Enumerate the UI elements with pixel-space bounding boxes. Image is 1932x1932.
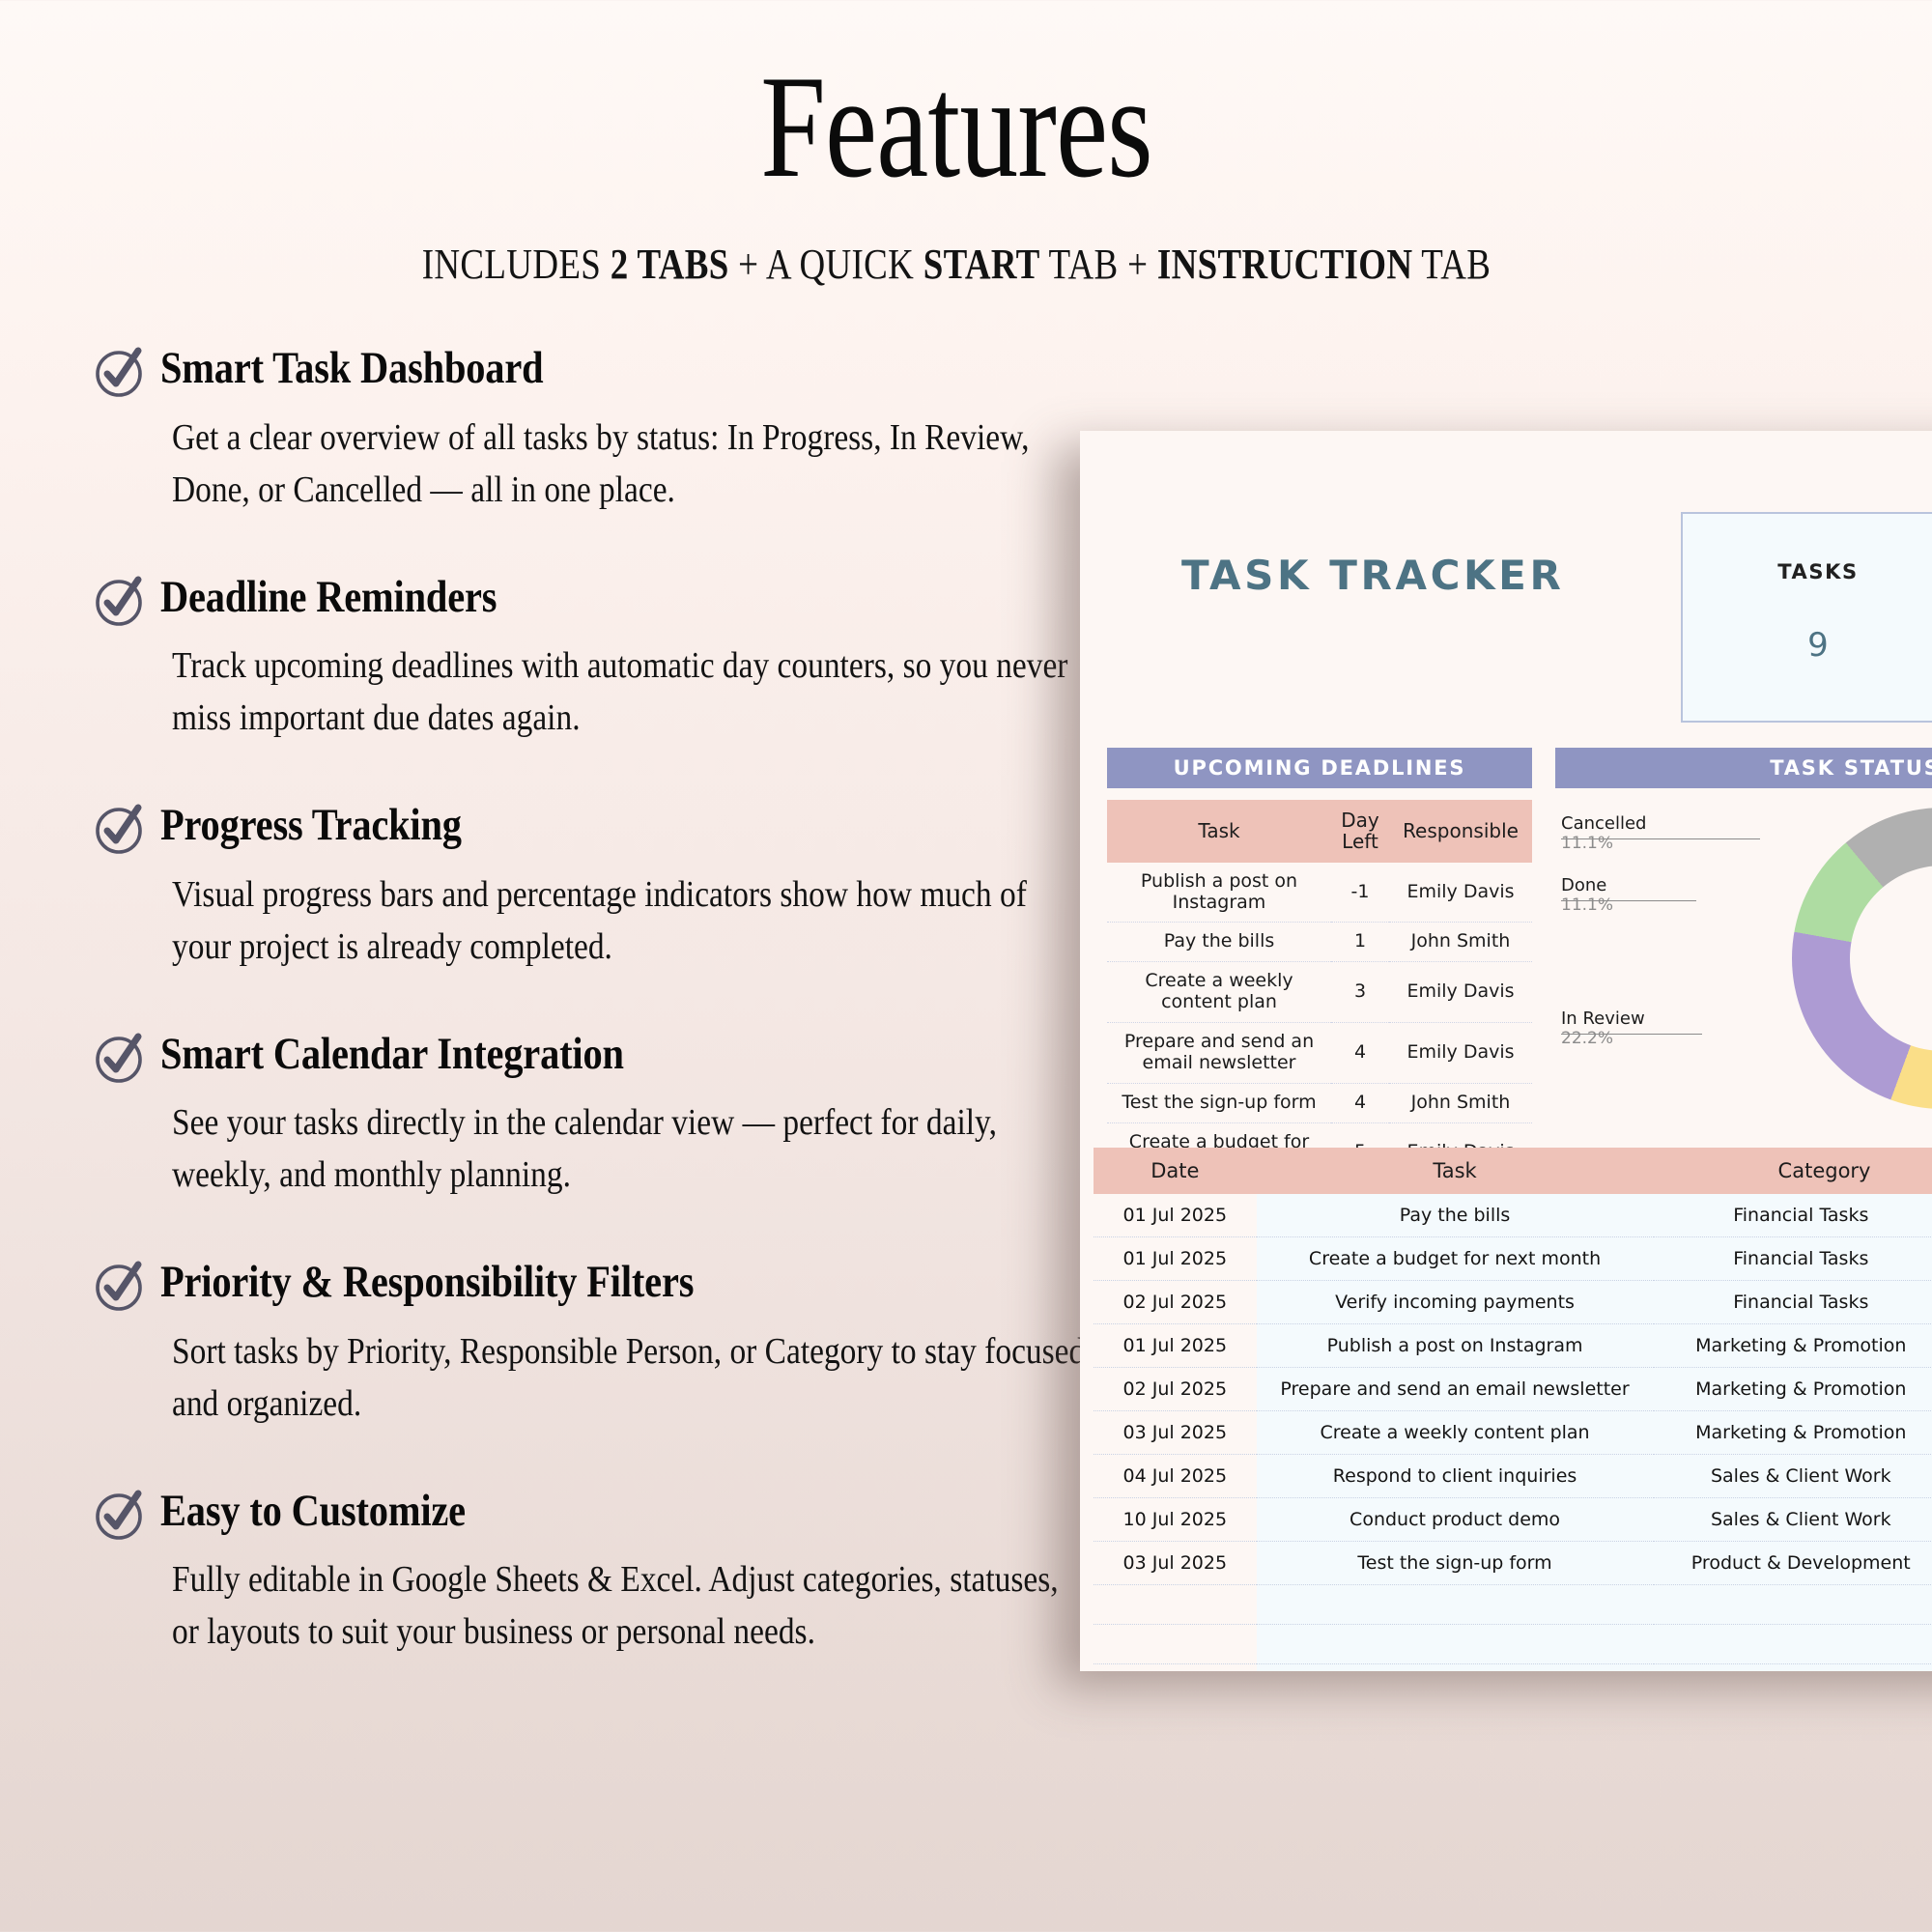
table-row: 04 Jul 2025 Respond to client inquiries … bbox=[1094, 1455, 1932, 1498]
deadline-day-left: 4 bbox=[1331, 1023, 1389, 1084]
deadline-task: Create a weekly content plan bbox=[1107, 962, 1331, 1023]
row-date: 03 Jul 2025 bbox=[1094, 1411, 1257, 1455]
row-task bbox=[1257, 1664, 1654, 1672]
row-category bbox=[1654, 1585, 1932, 1625]
row-task: Pay the bills bbox=[1257, 1194, 1654, 1237]
leader-line-in-review bbox=[1561, 1034, 1702, 1035]
row-task bbox=[1257, 1585, 1654, 1625]
page-title: Features bbox=[191, 53, 1721, 200]
row-category: Financial Tasks bbox=[1654, 1237, 1932, 1281]
feature-item: Deadline Reminders Track upcoming deadli… bbox=[93, 572, 1093, 746]
check-circle-icon bbox=[93, 574, 147, 628]
feature-title: Easy to Customize bbox=[160, 1486, 962, 1537]
feature-description: Get a clear overview of all tasks by sta… bbox=[172, 412, 1091, 517]
feature-item: Smart Task Dashboard Get a clear overvie… bbox=[93, 343, 1093, 517]
table-row: Prepare and send an email newsletter 4 E… bbox=[1107, 1023, 1532, 1084]
row-task: Publish a post on Instagram bbox=[1257, 1324, 1654, 1368]
leader-line-cancelled bbox=[1561, 838, 1760, 839]
deadlines-table-header-row: TaskDayLeftResponsible bbox=[1107, 800, 1532, 863]
row-category bbox=[1654, 1625, 1932, 1664]
main-col-header: Category bbox=[1654, 1148, 1932, 1194]
check-circle-icon bbox=[93, 1259, 147, 1313]
row-date bbox=[1094, 1664, 1257, 1672]
table-row: ▼ bbox=[1094, 1664, 1932, 1672]
row-date: 02 Jul 2025 bbox=[1094, 1368, 1257, 1411]
row-date: 10 Jul 2025 bbox=[1094, 1498, 1257, 1542]
table-row: 02 Jul 2025 Prepare and send an email ne… bbox=[1094, 1368, 1932, 1411]
deadline-responsible: John Smith bbox=[1389, 923, 1532, 962]
main-col-header: Task bbox=[1257, 1148, 1654, 1194]
row-date: 01 Jul 2025 bbox=[1094, 1194, 1257, 1237]
row-task: Test the sign-up form bbox=[1257, 1542, 1654, 1585]
row-date: 01 Jul 2025 bbox=[1094, 1237, 1257, 1281]
row-date bbox=[1094, 1585, 1257, 1625]
feature-description: Fully editable in Google Sheets & Excel.… bbox=[172, 1554, 1091, 1659]
feature-title: Smart Calendar Integration bbox=[160, 1029, 962, 1080]
sheet-title: TASK TRACKER bbox=[1181, 552, 1564, 599]
table-row: 01 Jul 2025 Create a budget for next mon… bbox=[1094, 1237, 1932, 1281]
check-circle-icon bbox=[93, 574, 147, 628]
table-row: 03 Jul 2025 Create a weekly content plan… bbox=[1094, 1411, 1932, 1455]
feature-item: Priority & Responsibility Filters Sort t… bbox=[93, 1257, 1093, 1431]
check-circle-icon bbox=[93, 1031, 147, 1085]
feature-description: Visual progress bars and percentage indi… bbox=[172, 869, 1091, 974]
row-date: 04 Jul 2025 bbox=[1094, 1455, 1257, 1498]
check-circle-icon bbox=[93, 1488, 147, 1542]
feature-title: Smart Task Dashboard bbox=[160, 343, 962, 394]
row-task bbox=[1257, 1625, 1654, 1664]
check-circle-icon bbox=[93, 345, 147, 399]
table-row: Publish a post on Instagram -1 Emily Dav… bbox=[1107, 863, 1532, 923]
deadline-task: Test the sign-up form bbox=[1107, 1083, 1331, 1122]
row-category: Marketing & Promotion bbox=[1654, 1368, 1932, 1411]
table-row: Create a weekly content plan 3 Emily Dav… bbox=[1107, 962, 1532, 1023]
feature-item: Easy to Customize Fully editable in Goog… bbox=[93, 1486, 1093, 1660]
row-date: 01 Jul 2025 bbox=[1094, 1324, 1257, 1368]
row-task: Create a weekly content plan bbox=[1257, 1411, 1654, 1455]
kpi-tasks-label: TASKS bbox=[1683, 560, 1932, 583]
deadlines-col-header: Task bbox=[1107, 800, 1331, 863]
deadline-responsible: Emily Davis bbox=[1389, 1023, 1532, 1084]
table-row: Test the sign-up form 4 John Smith bbox=[1107, 1083, 1532, 1122]
row-task: Conduct product demo bbox=[1257, 1498, 1654, 1542]
table-row: ▼ bbox=[1094, 1625, 1932, 1664]
deadlines-col-header: DayLeft bbox=[1331, 800, 1389, 863]
task-status-donut-chart: Cancelled 11.1% Done 11.1% In Review 22.… bbox=[1555, 800, 1932, 1119]
table-row: 01 Jul 2025 Pay the bills Financial Task… bbox=[1094, 1194, 1932, 1237]
check-circle-icon bbox=[93, 1031, 147, 1085]
check-circle-icon bbox=[93, 1488, 147, 1542]
row-task: Respond to client inquiries bbox=[1257, 1455, 1654, 1498]
row-category: Sales & Client Work bbox=[1654, 1498, 1932, 1542]
main-task-table: DateTaskCategoryDu 01 Jul 2025 Pay the b… bbox=[1094, 1148, 1932, 1671]
donut-label-in-review: In Review 22.2% bbox=[1561, 1009, 1645, 1048]
subtitle-text: TAB + bbox=[1040, 241, 1157, 288]
subtitle-emphasis: INSTRUCTION bbox=[1157, 241, 1413, 288]
feature-list: Smart Task Dashboard Get a clear overvie… bbox=[93, 343, 1093, 1659]
row-task: Prepare and send an email newsletter bbox=[1257, 1368, 1654, 1411]
row-date bbox=[1094, 1625, 1257, 1664]
table-row: Pay the bills 1 John Smith bbox=[1107, 923, 1532, 962]
row-task: Verify incoming payments bbox=[1257, 1281, 1654, 1324]
spreadsheet-mockup-card: TASK TRACKER TASKS 9 IN UPCOMING DEADLIN… bbox=[1080, 431, 1932, 1671]
kpi-tasks-value: 9 bbox=[1683, 626, 1932, 665]
donut-label-cancelled: Cancelled 11.1% bbox=[1561, 813, 1646, 853]
donut-label-done: Done 11.1% bbox=[1561, 875, 1613, 915]
row-task: Create a budget for next month bbox=[1257, 1237, 1654, 1281]
deadline-task: Publish a post on Instagram bbox=[1107, 863, 1331, 923]
feature-description: Sort tasks by Priority, Responsible Pers… bbox=[172, 1326, 1091, 1431]
deadline-task: Pay the bills bbox=[1107, 923, 1331, 962]
row-category: Financial Tasks bbox=[1654, 1194, 1932, 1237]
subtitle-emphasis: 2 TABS bbox=[611, 241, 729, 288]
deadline-day-left: 3 bbox=[1331, 962, 1389, 1023]
row-category: Sales & Client Work bbox=[1654, 1455, 1932, 1498]
row-category: Marketing & Promotion bbox=[1654, 1411, 1932, 1455]
table-row: 02 Jul 2025 Verify incoming payments Fin… bbox=[1094, 1281, 1932, 1324]
subtitle-text: + A QUICK bbox=[729, 241, 923, 288]
main-table-body: 01 Jul 2025 Pay the bills Financial Task… bbox=[1094, 1194, 1932, 1671]
kpi-strip: TASKS 9 IN bbox=[1681, 512, 1932, 723]
subtitle-text: TAB bbox=[1412, 241, 1491, 288]
table-row: 10 Jul 2025 Conduct product demo Sales &… bbox=[1094, 1498, 1932, 1542]
table-row: ▼ bbox=[1094, 1585, 1932, 1625]
row-category: Marketing & Promotion bbox=[1654, 1324, 1932, 1368]
section-bar-task-status-overview: TASK STATUS OVERVIEW bbox=[1555, 748, 1932, 788]
table-row: 01 Jul 2025 Publish a post on Instagram … bbox=[1094, 1324, 1932, 1368]
row-category: Financial Tasks bbox=[1654, 1281, 1932, 1324]
row-category bbox=[1654, 1664, 1932, 1672]
subtitle-emphasis: START bbox=[923, 241, 1040, 288]
row-date: 03 Jul 2025 bbox=[1094, 1542, 1257, 1585]
deadline-responsible: Emily Davis bbox=[1389, 863, 1532, 923]
section-bar-upcoming-deadlines: UPCOMING DEADLINES bbox=[1107, 748, 1532, 788]
leader-line-done bbox=[1561, 900, 1696, 901]
table-row: 03 Jul 2025 Test the sign-up form Produc… bbox=[1094, 1542, 1932, 1585]
feature-title: Progress Tracking bbox=[160, 800, 962, 851]
subtitle-text: INCLUDES bbox=[422, 241, 611, 288]
main-col-header: Date bbox=[1094, 1148, 1257, 1194]
feature-title: Priority & Responsibility Filters bbox=[160, 1257, 962, 1308]
feature-item: Smart Calendar Integration See your task… bbox=[93, 1029, 1093, 1203]
main-table-header-row: DateTaskCategoryDu bbox=[1094, 1148, 1932, 1194]
check-circle-icon bbox=[93, 802, 147, 856]
deadline-day-left: 4 bbox=[1331, 1083, 1389, 1122]
feature-description: Track upcoming deadlines with automatic … bbox=[172, 640, 1091, 745]
deadline-day-left: 1 bbox=[1331, 923, 1389, 962]
check-circle-icon bbox=[93, 1259, 147, 1313]
deadline-task: Prepare and send an email newsletter bbox=[1107, 1023, 1331, 1084]
feature-title: Deadline Reminders bbox=[160, 572, 962, 623]
deadline-day-left: -1 bbox=[1331, 863, 1389, 923]
row-category: Product & Development bbox=[1654, 1542, 1932, 1585]
feature-description: See your tasks directly in the calendar … bbox=[172, 1097, 1091, 1202]
check-circle-icon bbox=[93, 802, 147, 856]
check-circle-icon bbox=[93, 345, 147, 399]
deadlines-col-header: Responsible bbox=[1389, 800, 1532, 863]
deadline-responsible: John Smith bbox=[1389, 1083, 1532, 1122]
feature-item: Progress Tracking Visual progress bars a… bbox=[93, 800, 1093, 974]
page-subtitle: INCLUDES 2 TABS + A QUICK START TAB + IN… bbox=[153, 240, 1759, 289]
deadline-responsible: Emily Davis bbox=[1389, 962, 1532, 1023]
donut-ring bbox=[1792, 808, 1932, 1109]
row-date: 02 Jul 2025 bbox=[1094, 1281, 1257, 1324]
kpi-tasks: TASKS 9 bbox=[1683, 514, 1932, 721]
